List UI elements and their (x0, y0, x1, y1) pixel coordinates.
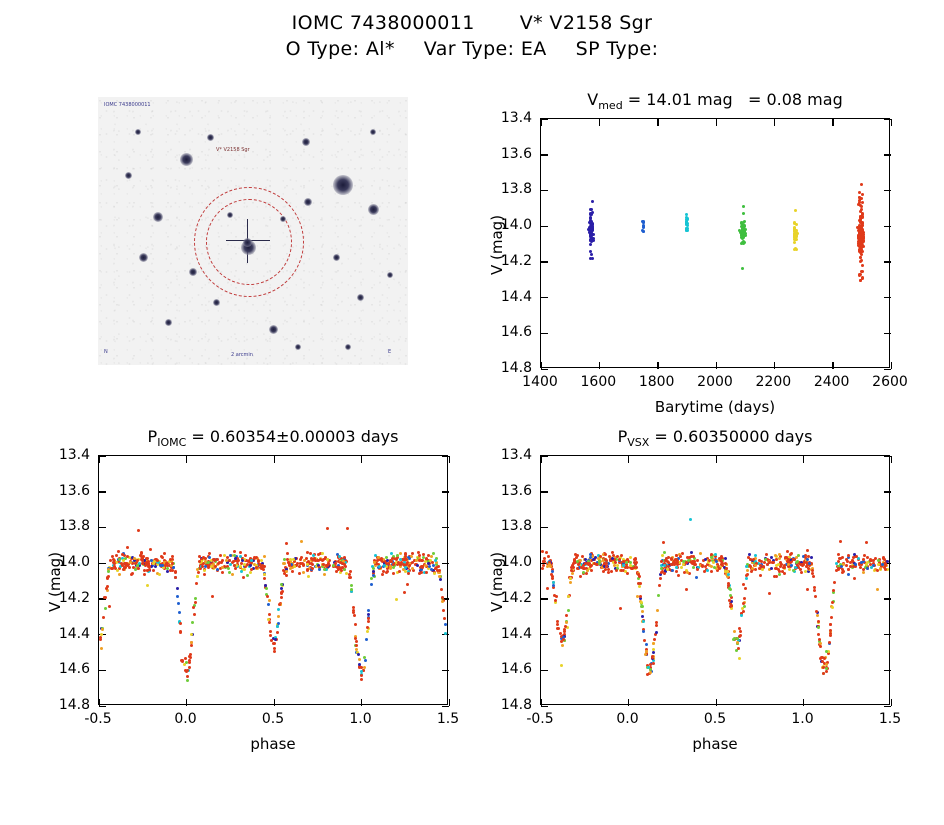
data-point (860, 561, 863, 564)
data-point (793, 241, 796, 244)
data-point (179, 622, 182, 625)
data-point (589, 220, 592, 223)
vartype-value: EA (521, 38, 547, 60)
y-tick (99, 456, 106, 457)
data-point (360, 674, 363, 677)
data-point (835, 569, 838, 572)
data-point (590, 234, 593, 237)
data-point (107, 570, 110, 573)
data-point (741, 607, 744, 610)
data-point (104, 607, 107, 610)
data-point (198, 560, 201, 563)
data-point (645, 643, 648, 646)
period-value: = 0.60350000 days (654, 427, 812, 446)
data-point (341, 562, 344, 565)
data-point (547, 555, 550, 558)
finder-scale-label: 2 arcmin (231, 352, 253, 358)
x-tick-label: 1600 (581, 374, 617, 390)
data-point (679, 555, 682, 558)
x-tick-label: 2400 (814, 374, 850, 390)
data-point (541, 550, 544, 553)
y-tick (884, 670, 891, 671)
data-point (786, 550, 789, 553)
data-point (611, 551, 614, 554)
data-point (551, 570, 554, 573)
data-point (692, 566, 695, 569)
data-point (364, 659, 367, 662)
data-point (814, 595, 817, 598)
data-point (642, 620, 645, 623)
data-point (386, 570, 389, 573)
data-point (101, 628, 104, 631)
data-point (250, 568, 253, 571)
x-tick (274, 456, 275, 463)
data-point (561, 644, 564, 647)
x-tick-label: 2600 (872, 374, 908, 390)
data-point (605, 565, 608, 568)
data-point (233, 550, 236, 553)
data-point (860, 244, 863, 247)
data-point (443, 617, 446, 620)
data-point (696, 568, 699, 571)
data-point (221, 571, 224, 574)
data-point (122, 559, 125, 562)
data-point (126, 563, 129, 566)
y-tick (541, 190, 548, 191)
data-point (710, 556, 713, 559)
data-point (166, 567, 169, 570)
data-point (439, 578, 442, 581)
data-point (737, 647, 740, 650)
data-point (392, 566, 395, 569)
data-point (211, 595, 214, 598)
y-axis-label: V (mag) (488, 552, 506, 612)
data-point (318, 568, 321, 571)
data-point (620, 554, 623, 557)
y-tick-label: 13.6 (501, 146, 532, 162)
data-point (190, 644, 193, 647)
y-tick (884, 491, 891, 492)
data-point (706, 569, 709, 572)
data-point (556, 620, 559, 623)
data-point (610, 570, 613, 573)
data-point (589, 243, 592, 246)
finder-star (368, 204, 379, 215)
data-point (372, 570, 375, 573)
header-line-1: IOMC 7438000011 V* V2158 Sgr (0, 10, 944, 36)
data-point (326, 527, 329, 530)
data-point (267, 603, 270, 606)
data-point (171, 555, 174, 558)
page-header: IOMC 7438000011 V* V2158 Sgr O Type: Al*… (0, 0, 944, 62)
y-tick-label: 14.4 (501, 626, 532, 642)
data-point (112, 558, 115, 561)
x-tick (449, 456, 450, 463)
data-point (169, 558, 172, 561)
data-point (861, 277, 864, 280)
data-point (729, 594, 732, 597)
data-point (745, 577, 748, 580)
data-point (385, 556, 388, 559)
data-point (710, 570, 713, 573)
y-tick (884, 297, 891, 298)
data-point (686, 556, 689, 559)
data-point (203, 569, 206, 572)
y-tick-label: 14.8 (501, 697, 532, 713)
data-point (876, 569, 879, 572)
y-tick (541, 333, 548, 334)
data-point (708, 559, 711, 562)
data-point (237, 559, 240, 562)
data-point (377, 556, 380, 559)
data-point (147, 562, 150, 565)
data-point (685, 561, 688, 564)
x-tick-label: 2000 (697, 374, 733, 390)
x-tick (657, 119, 658, 126)
data-point (799, 568, 802, 571)
data-point (622, 564, 625, 567)
x-tick-label: 1.0 (791, 711, 813, 727)
data-point (277, 615, 280, 618)
x-tick (274, 699, 275, 706)
data-point (861, 193, 864, 196)
data-point (404, 566, 407, 569)
x-tick (832, 119, 833, 126)
data-point (118, 558, 121, 561)
data-point (444, 632, 447, 635)
x-tick-label: 1.0 (349, 711, 371, 727)
data-point (300, 540, 303, 543)
x-tick (628, 456, 629, 463)
data-point (740, 222, 743, 225)
data-point (407, 572, 410, 575)
data-point (191, 621, 194, 624)
x-tick (803, 699, 804, 706)
data-point (591, 200, 594, 203)
phase-iomc-panel-title: PIOMC = 0.60354±0.00003 days (148, 427, 399, 449)
phase-vsx-panel-axes (540, 455, 890, 705)
data-point (276, 625, 279, 628)
data-point (358, 658, 361, 661)
y-tick (541, 154, 548, 155)
y-tick (884, 190, 891, 191)
data-point (699, 552, 702, 555)
data-point (696, 559, 699, 562)
data-point (392, 572, 395, 575)
data-point (242, 576, 245, 579)
data-point (686, 571, 689, 574)
data-point (201, 565, 204, 568)
data-point (778, 573, 781, 576)
data-point (831, 601, 834, 604)
data-point (816, 614, 819, 617)
data-point (285, 574, 288, 577)
data-point (740, 614, 743, 617)
data-point (760, 560, 763, 563)
data-point (417, 551, 420, 554)
finder-star (165, 319, 172, 326)
data-point (742, 235, 745, 238)
x-tick-label: 0.5 (704, 711, 726, 727)
data-point (689, 518, 692, 521)
data-point (652, 642, 655, 645)
data-point (352, 606, 355, 609)
data-point (718, 567, 721, 570)
data-point (806, 549, 809, 552)
y-tick (884, 226, 891, 227)
data-point (232, 560, 235, 563)
y-tick (884, 527, 891, 528)
data-point (752, 558, 755, 561)
data-point (373, 561, 376, 564)
data-point (441, 600, 444, 603)
data-point (221, 559, 224, 562)
data-point (821, 656, 824, 659)
x-tick-label: 2200 (756, 374, 792, 390)
finder-star (213, 299, 220, 306)
data-point (155, 558, 158, 561)
x-tick (716, 456, 717, 463)
data-point (589, 565, 592, 568)
data-point (656, 609, 659, 612)
otype-value: Al* (366, 38, 395, 60)
x-tick (803, 456, 804, 463)
data-point (408, 557, 411, 560)
data-point (847, 568, 850, 571)
x-tick-label: -0.5 (84, 711, 111, 727)
data-point (161, 556, 164, 559)
data-point (607, 568, 610, 571)
x-tick (541, 119, 542, 126)
data-point (663, 551, 666, 554)
data-point (626, 572, 629, 575)
data-point (104, 596, 107, 599)
y-tick (442, 670, 449, 671)
data-point (863, 554, 866, 557)
data-point (102, 616, 105, 619)
data-point (249, 571, 252, 574)
data-point (107, 575, 110, 578)
data-point (263, 577, 266, 580)
data-point (790, 564, 793, 567)
finder-star (189, 268, 197, 276)
data-point (847, 573, 850, 576)
data-point (625, 561, 628, 564)
data-point (620, 569, 623, 572)
y-tick (99, 491, 106, 492)
y-tick-label: 13.8 (59, 518, 90, 534)
y-axis-label: V (mag) (46, 552, 64, 612)
y-tick (442, 563, 449, 564)
y-tick (541, 226, 548, 227)
data-point (193, 613, 196, 616)
data-point (800, 571, 803, 574)
data-point (145, 561, 148, 564)
data-point (298, 572, 301, 575)
data-point (541, 567, 544, 570)
data-point (121, 553, 124, 556)
data-point (343, 556, 346, 559)
x-tick-label: 1800 (639, 374, 675, 390)
data-point (602, 570, 605, 573)
data-point (833, 581, 836, 584)
lightcurve-panel-axes (540, 118, 890, 368)
finder-star (370, 129, 376, 135)
data-point (339, 567, 342, 570)
data-point (770, 567, 773, 570)
y-tick (884, 369, 891, 370)
data-point (806, 588, 809, 591)
data-point (579, 559, 582, 562)
data-point (302, 571, 305, 574)
data-point (444, 623, 447, 626)
y-tick (442, 491, 449, 492)
data-point (746, 569, 749, 572)
data-point (567, 609, 570, 612)
data-point (269, 634, 272, 637)
y-tick-label: 14.8 (59, 697, 90, 713)
data-point (618, 558, 621, 561)
data-point (862, 558, 865, 561)
data-point (354, 623, 357, 626)
data-point (585, 572, 588, 575)
vmed-value: = 14.01 mag (628, 90, 733, 109)
x-tick (716, 362, 717, 369)
data-point (367, 620, 370, 623)
data-point (742, 602, 745, 605)
data-point (766, 563, 769, 566)
data-point (652, 651, 655, 654)
data-point (141, 559, 144, 562)
data-point (691, 560, 694, 563)
data-point (338, 555, 341, 558)
data-point (565, 621, 568, 624)
data-point (852, 565, 855, 568)
data-point (158, 573, 161, 576)
data-point (761, 568, 764, 571)
data-point (325, 564, 328, 567)
data-point (724, 557, 727, 560)
data-point (680, 566, 683, 569)
data-point (804, 570, 807, 573)
data-point (663, 572, 666, 575)
finder-star (139, 253, 148, 262)
data-point (433, 572, 436, 575)
data-point (583, 567, 586, 570)
data-point (768, 561, 771, 564)
data-point (300, 556, 303, 559)
vartype-label: Var Type: (424, 38, 515, 60)
data-point (263, 565, 266, 568)
data-point (188, 661, 191, 664)
data-point (434, 559, 437, 562)
period-symbol: PVSX (618, 427, 650, 446)
data-point (269, 630, 272, 633)
data-point (829, 623, 832, 626)
data-point (657, 594, 660, 597)
data-point (859, 215, 862, 218)
data-point (239, 551, 242, 554)
data-point (355, 640, 358, 643)
data-point (754, 564, 757, 567)
y-tick-label: 14.4 (59, 626, 90, 642)
data-point (795, 248, 798, 251)
data-point (280, 596, 283, 599)
data-point (745, 565, 748, 568)
data-point (298, 565, 301, 568)
data-point (108, 605, 111, 608)
data-point (123, 566, 126, 569)
x-tick (774, 362, 775, 369)
y-tick (99, 706, 106, 707)
data-point (146, 557, 149, 560)
data-point (577, 563, 580, 566)
data-point (796, 232, 799, 235)
data-point (268, 599, 271, 602)
y-tick (884, 333, 891, 334)
y-tick (541, 297, 548, 298)
data-point (136, 559, 139, 562)
finder-star (207, 134, 214, 141)
data-point (829, 632, 832, 635)
x-tick (657, 362, 658, 369)
data-point (819, 645, 822, 648)
y-tick (541, 598, 548, 599)
data-point (725, 567, 728, 570)
data-point (430, 555, 433, 558)
data-point (576, 554, 579, 557)
y-tick (884, 598, 891, 599)
data-point (742, 583, 745, 586)
data-point (807, 567, 810, 570)
data-point (862, 571, 865, 574)
data-point (858, 191, 861, 194)
data-point (739, 630, 742, 633)
data-point (548, 563, 551, 566)
data-point (778, 557, 781, 560)
data-point (437, 565, 440, 568)
y-tick (541, 527, 548, 528)
data-point (581, 555, 584, 558)
data-point (425, 571, 428, 574)
data-point (366, 630, 369, 633)
data-point (184, 657, 187, 660)
data-point (733, 630, 736, 633)
data-point (883, 566, 886, 569)
data-point (634, 562, 637, 565)
data-point (355, 644, 358, 647)
data-point (661, 554, 664, 557)
phase-vsx-panel-title: PVSX = 0.60350000 days (618, 427, 813, 449)
data-point (208, 552, 211, 555)
period-symbol: PIOMC (148, 427, 187, 446)
data-point (813, 586, 816, 589)
y-tick (541, 369, 548, 370)
data-point (815, 610, 818, 613)
data-point (663, 564, 666, 567)
data-point (432, 552, 435, 555)
data-point (589, 556, 592, 559)
y-tick-label: 13.4 (501, 110, 532, 126)
data-point (839, 540, 842, 543)
x-tick (361, 699, 362, 706)
err-value: = 0.08 mag (743, 90, 843, 109)
data-point (637, 582, 640, 585)
data-point (149, 548, 152, 551)
data-point (273, 650, 276, 653)
data-point (180, 659, 183, 662)
data-point (742, 212, 745, 215)
